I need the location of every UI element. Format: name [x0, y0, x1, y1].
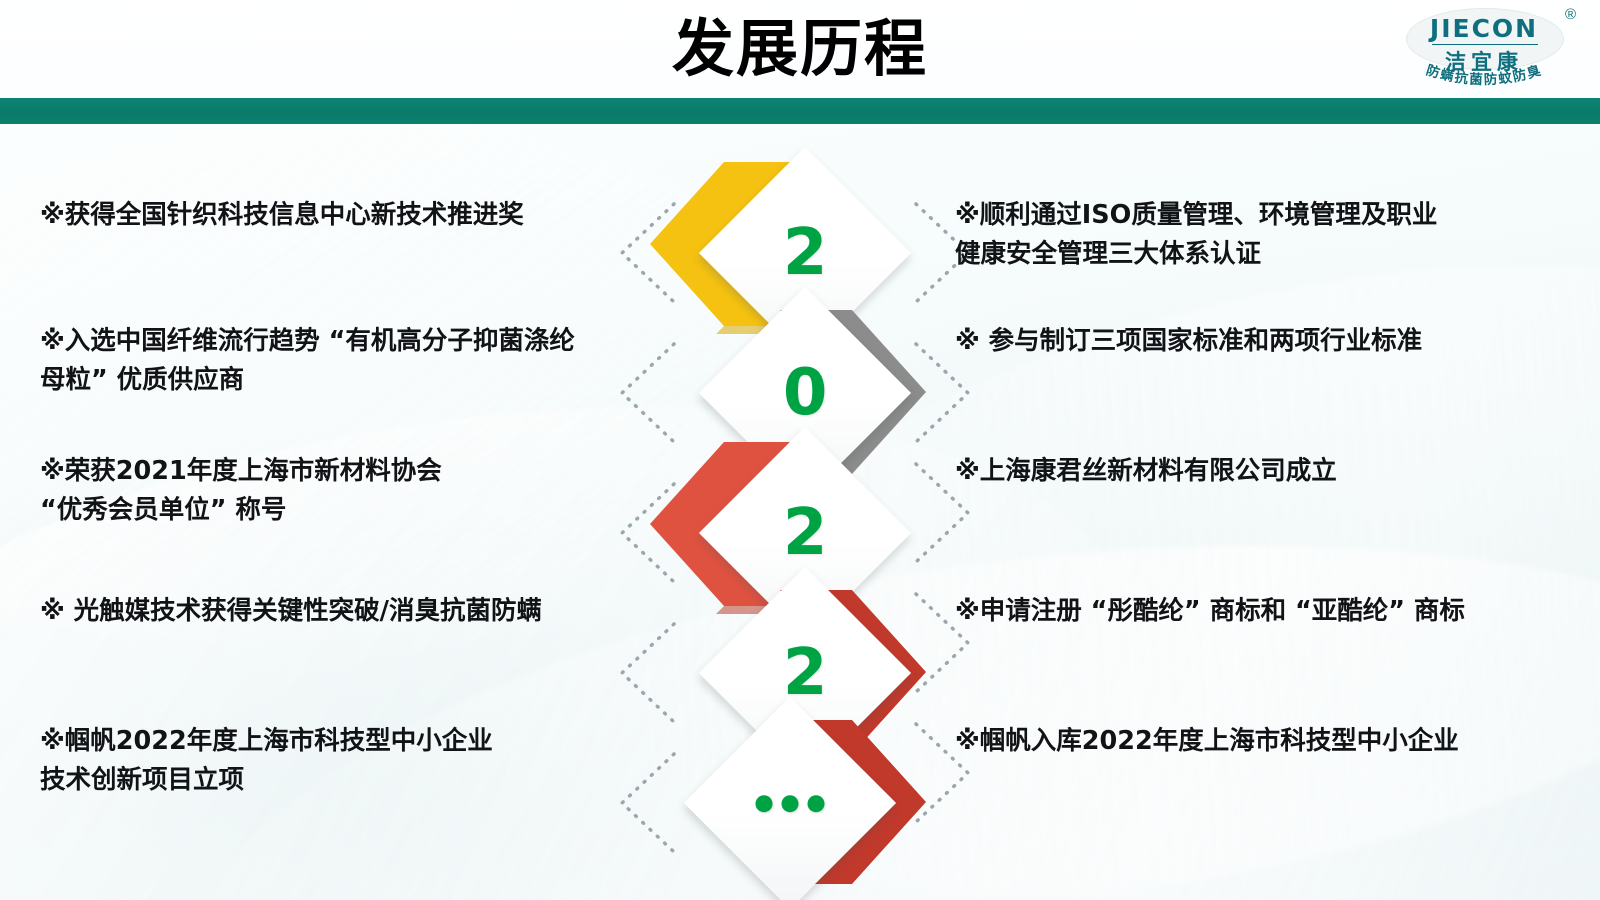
- logo-slogan-text: 防螨抗菌防蚊防臭: [1424, 61, 1544, 88]
- dotted-chevron-left-2: [612, 338, 682, 448]
- left-milestone-item-3: ※荣获2021年度上海市新材料协会 “优秀会员单位” 称号: [40, 452, 442, 530]
- left-milestones-column: ※获得全国针织科技信息中心新技术推进奖 ※入选中国纤维流行趋势 “有机高分子抑菌…: [40, 140, 620, 860]
- dotted-chevron-left-4: [612, 618, 682, 728]
- logo-divider: [1432, 44, 1538, 45]
- timeline-column: 2 0 2: [620, 140, 980, 860]
- timeline-node-5-dots-icon: [756, 795, 825, 812]
- timeline-node-1-label: 2: [783, 221, 828, 285]
- slide-canvas: 发展历程 ® JIECON 洁宜康 防螨抗菌防蚊防臭 2: [0, 0, 1600, 900]
- timeline-node-3-label: 2: [783, 501, 828, 565]
- right-milestone-item-4: ※申请注册 “彤酷纶” 商标和 “亚酷纶” 商标: [955, 592, 1465, 631]
- right-milestone-item-1: ※顺利通过ISO质量管理、环境管理及职业 健康安全管理三大体系认证: [955, 196, 1437, 274]
- dot-1: [756, 795, 773, 812]
- dotted-chevron-left-5: [612, 748, 682, 858]
- header-accent-bar: [0, 98, 1600, 124]
- page-title: 发展历程: [0, 8, 1600, 90]
- timeline-node-2-label: 0: [783, 361, 828, 425]
- dotted-chevron-left-1: [612, 198, 682, 308]
- dot-2: [782, 795, 799, 812]
- left-milestone-item-4: ※ 光触媒技术获得关键性突破/消臭抗菌防螨: [40, 592, 542, 631]
- right-milestones-column: ※顺利通过ISO质量管理、环境管理及职业 健康安全管理三大体系认证 ※ 参与制订…: [955, 140, 1555, 860]
- dotted-chevron-left-3: [612, 478, 682, 588]
- left-milestone-item-5: ※帼帆2022年度上海市科技型中小企业 技术创新项目立项: [40, 722, 493, 800]
- right-milestone-item-3: ※上海康君丝新材料有限公司成立: [955, 452, 1337, 491]
- right-milestone-item-2: ※ 参与制订三项国家标准和两项行业标准: [955, 322, 1422, 361]
- timeline-node-4-label: 2: [783, 641, 828, 705]
- logo-brand-en: JIECON: [1384, 14, 1584, 43]
- left-milestone-item-2: ※入选中国纤维流行趋势 “有机高分子抑菌涤纶 母粒” 优质供应商: [40, 322, 575, 400]
- company-logo: ® JIECON 洁宜康 防螨抗菌防蚊防臭: [1384, 2, 1584, 98]
- right-milestone-item-5: ※帼帆入库2022年度上海市科技型中小企业: [955, 722, 1459, 761]
- dot-3: [808, 795, 825, 812]
- logo-slogan-arc-icon: 防螨抗菌防蚊防臭: [1384, 60, 1584, 100]
- slide-header: 发展历程: [0, 0, 1600, 106]
- left-milestone-item-1: ※获得全国针织科技信息中心新技术推进奖: [40, 196, 524, 235]
